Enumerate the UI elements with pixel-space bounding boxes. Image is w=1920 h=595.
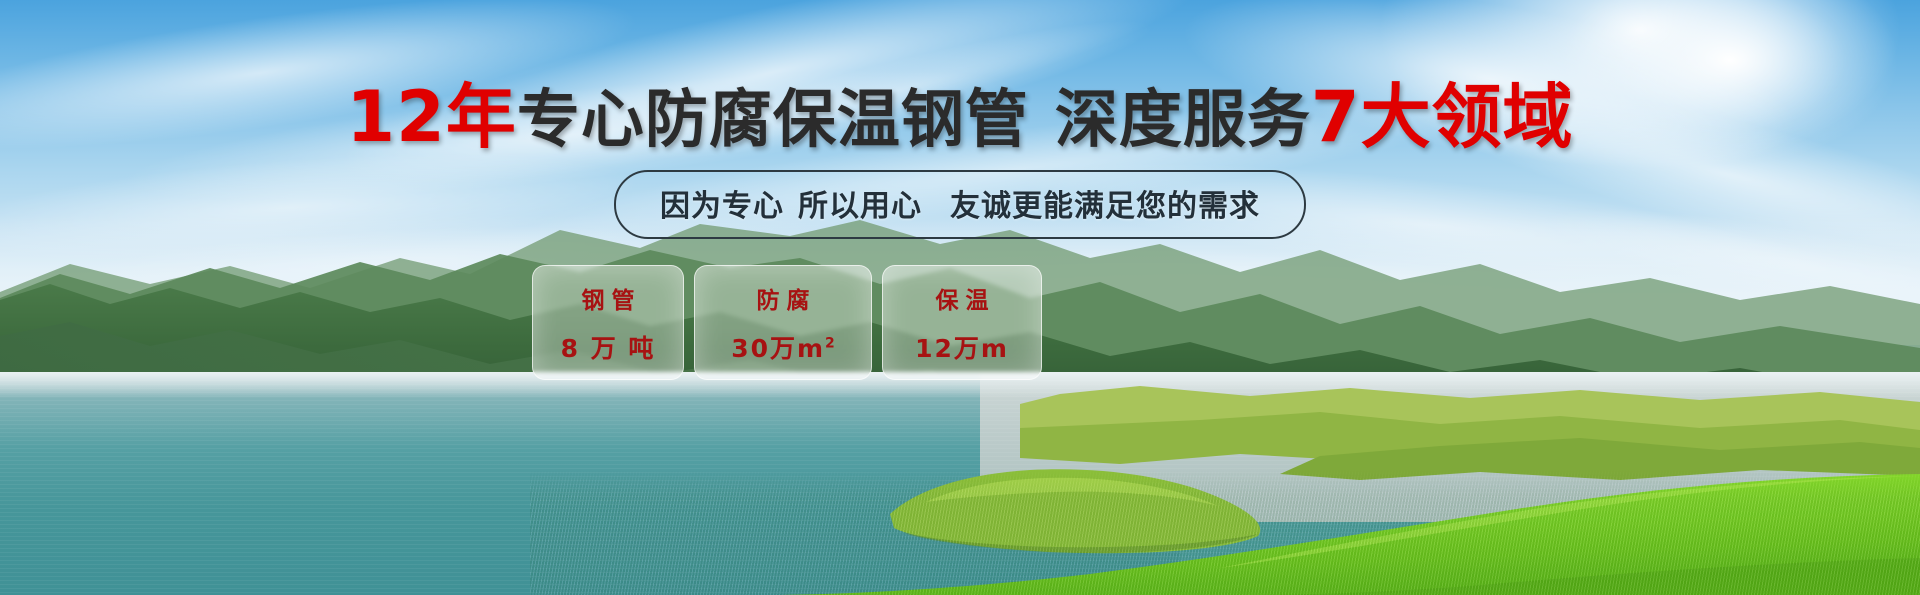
stat-card-value: 30万m2 xyxy=(731,329,835,365)
headline-part2: 深度服务 xyxy=(1055,83,1311,156)
stat-card-steel-pipe: 钢管 8 万 吨 xyxy=(532,265,684,380)
foreground-grass xyxy=(530,470,1920,595)
stat-card-title: 钢管 xyxy=(575,281,642,315)
stat-card-title: 防腐 xyxy=(750,281,817,315)
headline-years-number: 12 xyxy=(346,76,445,158)
subtitle-segment-3: 友诚更能满足您的需求 xyxy=(950,189,1260,224)
headline-part1: 专心防腐保温钢管 xyxy=(517,83,1029,156)
subtitle-pill: 因为专心所以用心友诚更能满足您的需求 xyxy=(614,170,1306,239)
stat-card-value: 8 万 吨 xyxy=(561,329,656,365)
stat-card-insulation: 保温 12万m xyxy=(882,265,1042,380)
headline: 12年专心防腐保温钢管深度服务7大领域 xyxy=(0,82,1920,152)
headline-fields-unit: 大领域 xyxy=(1361,76,1574,158)
stat-value-text: 12万m xyxy=(915,334,1009,363)
hero-banner: 12年专心防腐保温钢管深度服务7大领域 因为专心所以用心友诚更能满足您的需求 钢… xyxy=(0,0,1920,595)
stat-value-text: 30万m xyxy=(731,334,825,363)
headline-years-unit: 年 xyxy=(446,76,517,158)
stat-card-title: 保温 xyxy=(929,281,996,315)
stat-card-value: 12万m xyxy=(915,329,1009,365)
stat-card-anticorrosion: 防腐 30万m2 xyxy=(694,265,872,380)
stat-value-superscript: 2 xyxy=(825,335,835,351)
headline-fields-number: 7 xyxy=(1311,76,1361,158)
subtitle-segment-2: 所以用心 xyxy=(798,189,922,224)
stat-value-text: 8 万 吨 xyxy=(561,334,656,363)
stat-card-group: 钢管 8 万 吨 防腐 30万m2 保温 12万m xyxy=(532,265,1042,380)
subtitle-segment-1: 因为专心 xyxy=(660,189,784,224)
